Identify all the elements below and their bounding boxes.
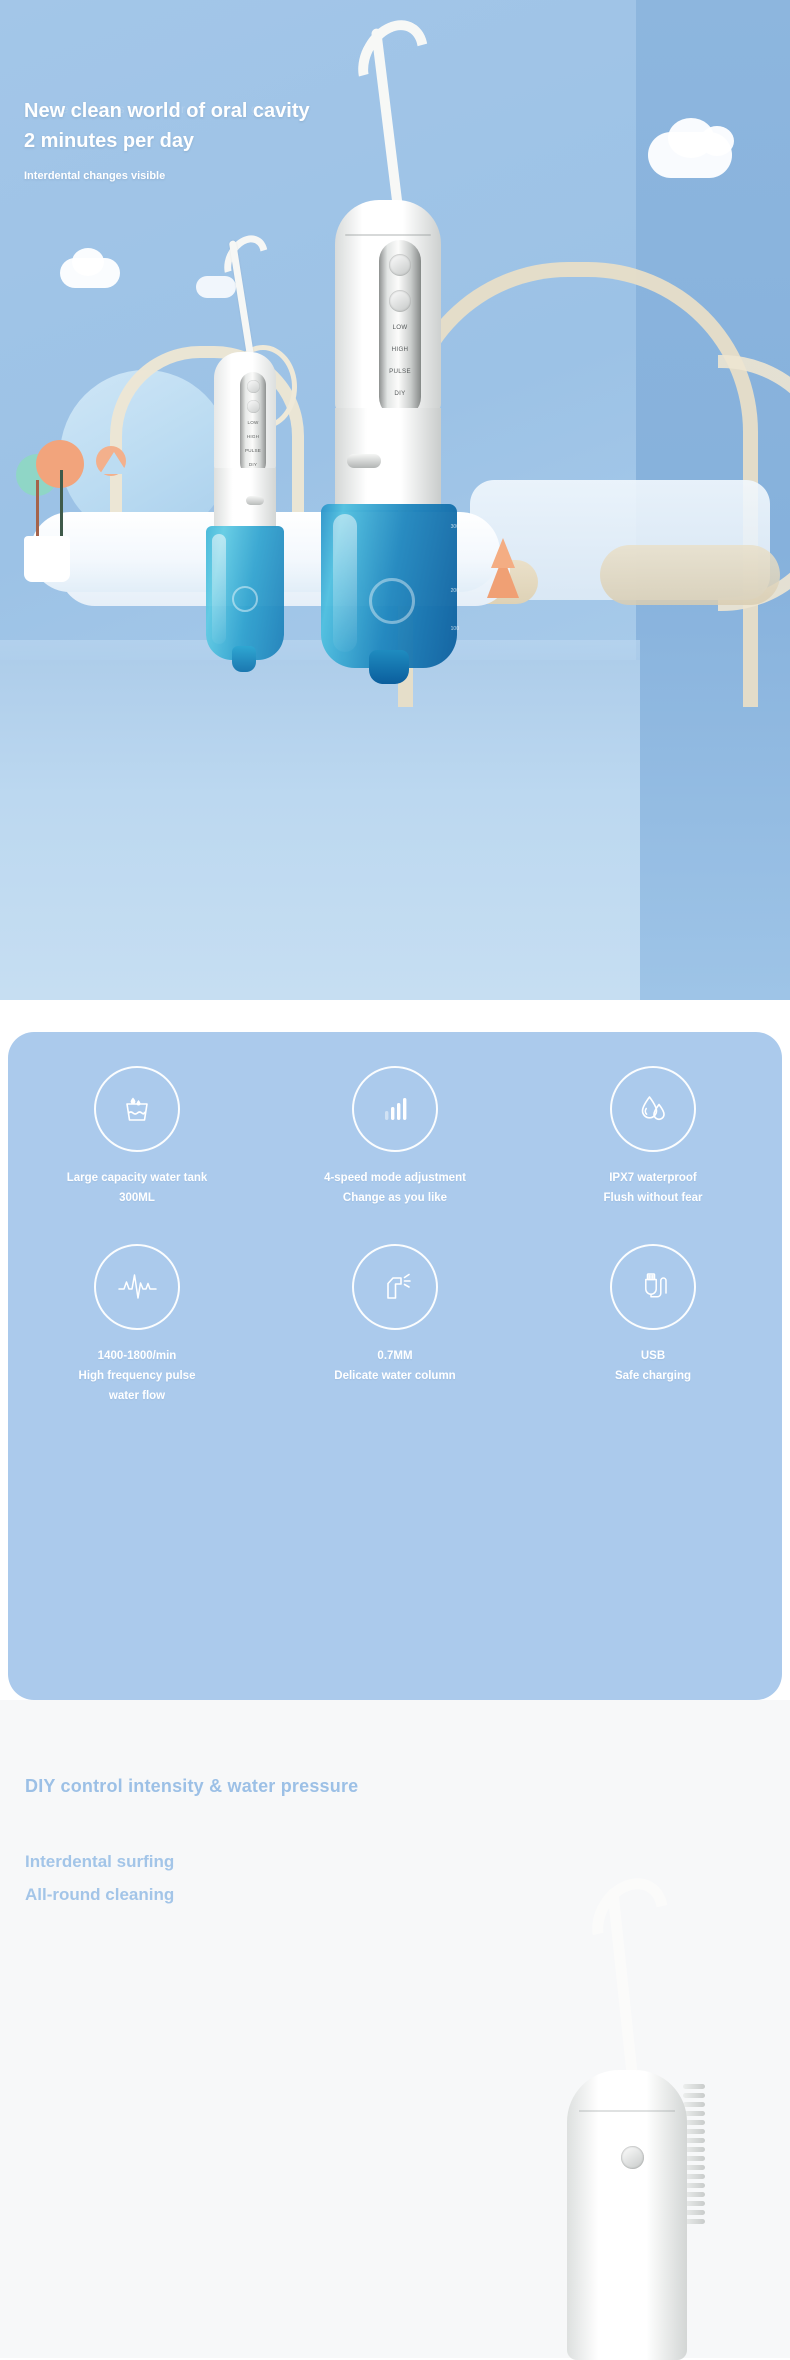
mode-label-diy: DIY	[240, 462, 266, 467]
feature-item-waterproof: IPX7 waterproof Flush without fear	[524, 1066, 782, 1208]
pine-decoration	[491, 538, 515, 568]
bottom-subtitle-line2: All-round cleaning	[25, 1878, 174, 1911]
feature-text-line1: 4-speed mode adjustment	[324, 1168, 466, 1188]
tank-button[interactable]	[369, 578, 415, 624]
tank-button[interactable]	[232, 586, 258, 612]
feature-icon-circle	[352, 1066, 438, 1152]
mode-button[interactable]	[389, 290, 411, 312]
feature-text-line1: IPX7 waterproof	[609, 1168, 697, 1188]
mode-label-low: LOW	[377, 324, 423, 331]
cloud-icon	[700, 126, 734, 156]
hero-floor	[0, 660, 640, 1000]
features-panel: Large capacity water tank 300ML 4-speed …	[8, 1032, 782, 1700]
tank-outlet	[369, 650, 409, 684]
tree-decoration	[16, 440, 106, 570]
feature-text-line1: 0.7MM	[377, 1346, 412, 1366]
hero-headline-line2: 2 minutes per day	[24, 126, 310, 156]
signal-bars-icon	[375, 1089, 415, 1129]
power-button[interactable]	[247, 380, 260, 393]
hero-banner: LOW HIGH PULSE DIY LOW HIGH PULSE DIY	[0, 0, 790, 1000]
feature-text-line2: 300ML	[119, 1188, 155, 1208]
feature-item-water-column: 0.7MM Delicate water column	[266, 1244, 524, 1406]
feature-text-line3: water flow	[109, 1386, 165, 1406]
product-large-water-flosser: LOW HIGH PULSE DIY 300 200 100	[313, 28, 473, 668]
mode-label-pulse: PULSE	[240, 448, 266, 453]
cloud-icon	[72, 248, 104, 276]
pine-decoration	[100, 452, 128, 474]
device-seam-line	[345, 234, 431, 236]
tree-trunk	[36, 480, 39, 540]
feature-text-line2: Flush without fear	[603, 1188, 702, 1208]
features-grid: Large capacity water tank 300ML 4-speed …	[8, 1066, 782, 1406]
device-seam-line	[579, 2110, 675, 2112]
feature-icon-circle	[352, 1244, 438, 1330]
mode-label-diy: DIY	[377, 390, 423, 397]
feature-text-line2: High frequency pulse	[79, 1366, 196, 1386]
water-drops-icon	[633, 1089, 673, 1129]
tank-mark-100: 100	[451, 626, 459, 632]
podium-small	[600, 545, 780, 605]
feature-icon-circle	[94, 1066, 180, 1152]
feature-item-speed-mode: 4-speed mode adjustment Change as you li…	[266, 1066, 524, 1208]
mode-button[interactable]	[247, 400, 260, 413]
feature-text-line2: Safe charging	[615, 1366, 691, 1386]
feature-item-pulse-frequency: 1400-1800/min High frequency pulse water…	[8, 1244, 266, 1406]
feature-item-water-tank: Large capacity water tank 300ML	[8, 1066, 266, 1208]
feature-text-line1: 1400-1800/min	[98, 1346, 177, 1366]
tree-trunk	[60, 470, 63, 540]
tank-mark-300: 300	[451, 524, 459, 530]
tank-mark-200: 200	[451, 588, 459, 594]
hero-copy: New clean world of oral cavity 2 minutes…	[24, 96, 310, 182]
product-detail-page: LOW HIGH PULSE DIY LOW HIGH PULSE DIY	[0, 0, 790, 2358]
feature-icon-circle	[610, 1066, 696, 1152]
power-button[interactable]	[389, 254, 411, 276]
hero-subheadline: Interdental changes visible	[24, 170, 310, 182]
usb-plug-icon	[633, 1267, 673, 1307]
hero-headline-line1: New clean world of oral cavity	[24, 96, 310, 126]
product-bottom-water-flosser	[555, 1888, 745, 2358]
pulse-wave-icon	[114, 1267, 160, 1307]
feature-text-line2: Delicate water column	[334, 1366, 455, 1386]
product-small-water-flosser: LOW HIGH PULSE DIY	[196, 240, 292, 660]
feature-text-line1: Large capacity water tank	[67, 1168, 208, 1188]
device-lower-body	[214, 468, 276, 528]
bottom-title: DIY control intensity & water pressure	[25, 1776, 358, 1797]
bottom-subtitle-line1: Interdental surfing	[25, 1845, 174, 1878]
water-tank-icon	[117, 1089, 157, 1129]
mode-label-low: LOW	[240, 420, 266, 425]
release-slider[interactable]	[246, 496, 264, 505]
tank-outlet	[232, 646, 256, 672]
tree-pot	[24, 536, 70, 582]
feature-icon-circle	[94, 1244, 180, 1330]
bottom-subtitle: Interdental surfing All-round cleaning	[25, 1845, 174, 1911]
mode-label-high: HIGH	[377, 346, 423, 353]
feature-text-line1: USB	[641, 1346, 665, 1366]
power-button[interactable]	[621, 2146, 644, 2169]
release-slider[interactable]	[347, 454, 381, 468]
mode-label-high: HIGH	[240, 434, 266, 439]
feature-text-line2: Change as you like	[343, 1188, 447, 1208]
nozzle-spray-icon	[375, 1267, 415, 1307]
mode-label-pulse: PULSE	[377, 368, 423, 375]
feature-icon-circle	[610, 1244, 696, 1330]
feature-item-usb-charging: USB Safe charging	[524, 1244, 782, 1406]
